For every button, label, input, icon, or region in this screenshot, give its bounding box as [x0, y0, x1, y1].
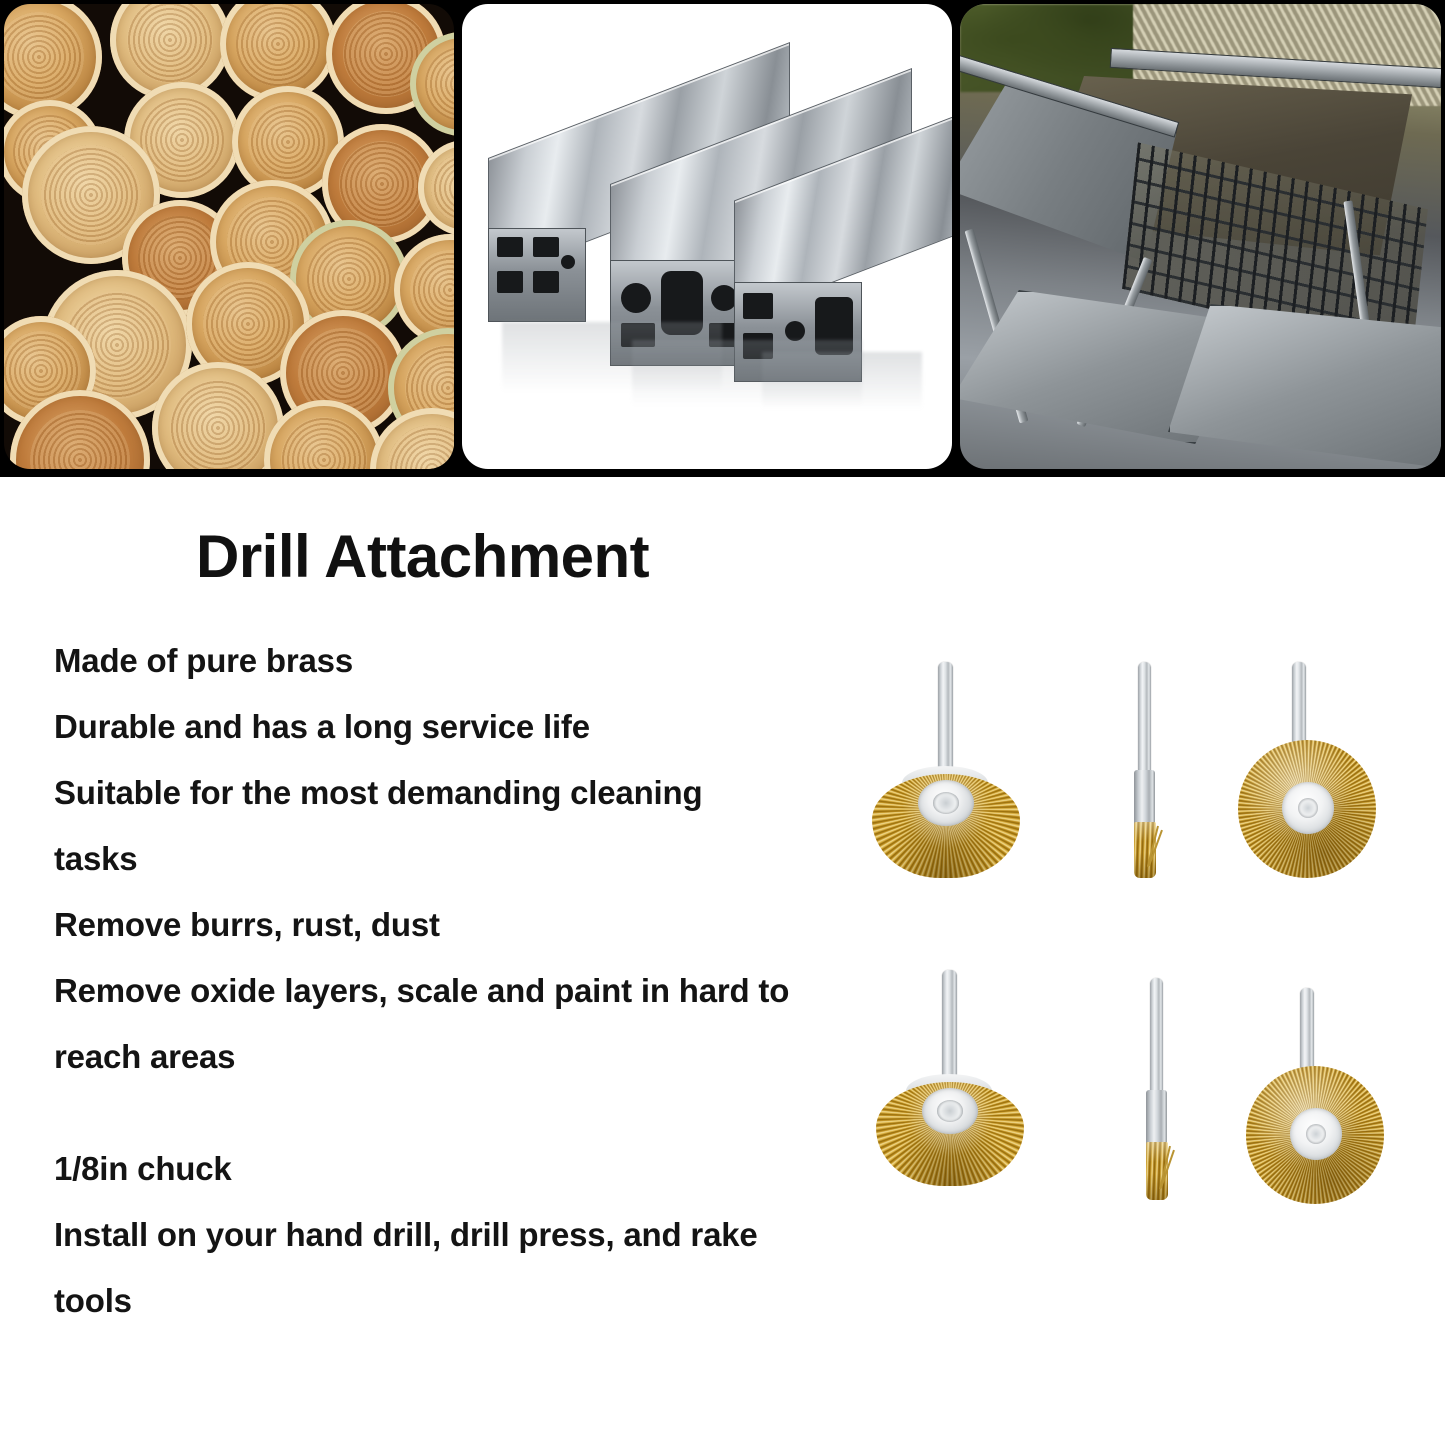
brush-hub-icon — [922, 1088, 978, 1134]
product-photo-cup-brush — [852, 654, 1042, 924]
feature-line: Suitable for the most demanding cleaning — [54, 760, 854, 826]
spec-line: tools — [54, 1268, 854, 1334]
feature-line: tasks — [54, 826, 854, 892]
product-photo-group — [800, 640, 1445, 1260]
feature-line: Remove burrs, rust, dust — [54, 892, 854, 958]
brush-hub-icon — [1282, 782, 1334, 834]
brush-shank-icon — [1150, 978, 1163, 1094]
product-photo-wheel-brush — [1220, 980, 1410, 1250]
feature-line: Remove oxide layers, scale and paint in … — [54, 958, 854, 1024]
feature-line: reach areas — [54, 1024, 854, 1090]
hero-panel-metal-grill — [956, 0, 1445, 477]
brush-ferrule-icon — [1134, 770, 1155, 826]
product-photo-wheel-brush — [1212, 654, 1402, 924]
brush-hub-icon — [918, 780, 974, 826]
brush-shank-icon — [938, 662, 953, 774]
feature-line: Made of pure brass — [54, 628, 854, 694]
brush-hub-icon — [1290, 1108, 1342, 1160]
hero-panel-aluminium-extrusion — [458, 0, 956, 477]
spec-line: Install on your hand drill, drill press,… — [54, 1202, 854, 1268]
spec-line: 1/8in chuck — [54, 1136, 854, 1202]
grill-photo — [960, 4, 1441, 469]
brush-ferrule-icon — [1146, 1090, 1167, 1146]
hero-image-strip — [0, 0, 1445, 477]
brush-shank-icon — [942, 970, 957, 1082]
feature-line: Durable and has a long service life — [54, 694, 854, 760]
feature-list: Made of pure brass Durable and has a lon… — [54, 628, 854, 1334]
logs-photo — [4, 4, 454, 469]
copy-spacer — [54, 1090, 854, 1136]
extrusion-photo — [462, 4, 952, 469]
hero-panel-stacked-logs — [0, 0, 458, 477]
product-photo-cup-brush — [856, 962, 1046, 1232]
brush-shank-icon — [1138, 662, 1151, 774]
page-title: Drill Attachment — [196, 522, 649, 591]
